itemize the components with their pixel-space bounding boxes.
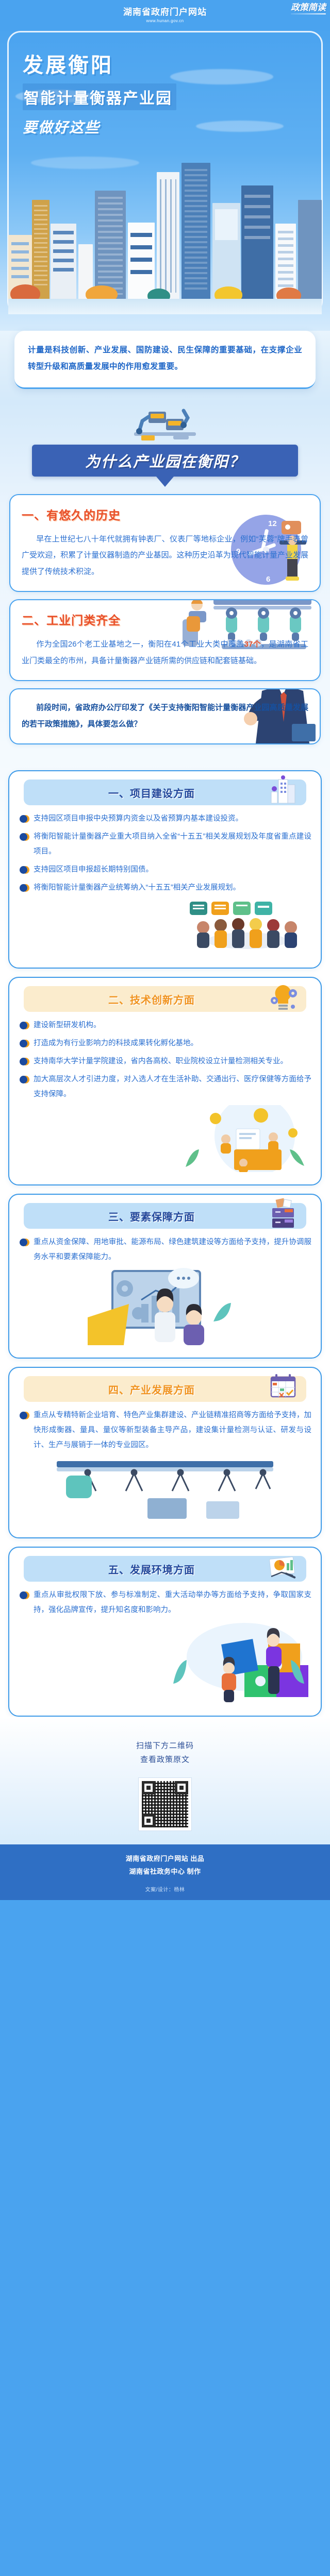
brand-underline [291,13,326,14]
site-header: 湖南省政府门户网站 www.hunan.gov.cn 政策简读 [0,0,330,28]
intro-card: 计量是科技创新、产业发展、国防建设、民生保障的重要基础，在支撑企业转型升级和高质… [14,331,316,389]
file-cabinet-icon [267,1198,299,1230]
transition-paragraph: 前段时间，省政府办公厅印发了《关于支持衡阳智能计量衡器产业园高质量发展的若干政策… [22,700,308,732]
bullet-dot-icon [20,1412,29,1421]
building [298,200,322,301]
why-section: 为什么产业园在衡阳？ 一、有悠久的历史 早在上世纪七八十年代就拥有钟表厂、仪表厂… [0,402,330,757]
bullet-dot-icon [20,815,29,824]
qr-finder-icon [142,1781,155,1794]
hero-title-line2: 智能计量衡器产业园 [24,90,172,107]
round-table-meeting-illustration [183,899,311,955]
talent-incentive-illustration [183,1105,311,1172]
why-card-industry-text: 作为全国26个老工业基地之一，衡阳在41个工业大类中覆盖37个，是湖南省工业门类… [22,636,308,669]
ground-strip [8,299,322,314]
bullet-dot-icon [20,1076,29,1085]
cloud-decor [170,69,273,84]
policy-card-development-environment: 五、发展环境方面 重点从审批权限下放、参与标准制定、重大活动举办等方面给予支持，… [8,1547,322,1717]
policy-title-5: 五、发展环境方面 [108,1562,195,1577]
qr-code-image [142,1781,188,1827]
why-banner-arrow [156,477,174,487]
qr-finder-icon [142,1814,155,1827]
list-item: 支持园区项目申报中央预算内资金以及省预算内基本建设投资。 [19,811,311,826]
policy-title-1: 一、项目建设方面 [108,785,195,800]
bullet-dot-icon [20,866,29,875]
building [32,200,49,301]
why-card-history-text: 早在上世纪七八十年代就拥有钟表厂、仪表厂等地标企业，例如“芙蓉”牌手表曾广受欢迎… [22,531,308,580]
brand-badge: 政策简读 [291,3,326,14]
policy-title-3: 三、要素保障方面 [108,1209,195,1224]
list-item: 重点从专精特新企业培育、特色产业集群建设、产业链精准招商等方面给予支持，加快形成… [19,1408,311,1453]
intro-paragraph: 计量是科技创新、产业发展、国防建设、民生保障的重要基础，在支撑企业转型升级和高质… [28,342,302,375]
list-item: 建设新型研发机构。 [19,1018,311,1033]
bullet-dot-icon [20,1239,29,1248]
why-card-industry: 二、工业门类齐全 作为全国26个老工业基地之一，衡阳在41个工业大类中覆盖37个… [9,599,321,681]
building [181,163,210,301]
transition-card: 前段时间，省政府办公厅印发了《关于支持衡阳智能计量衡器产业园高质量发展的若干政策… [9,688,321,744]
hero-title-line3: 要做好这些 [23,116,176,137]
list-item: 将衡阳智能计量衡器产业统筹纳入“十五五”相关产业发展规划。 [19,880,311,895]
policy-bullets-3: 重点从资金保障、用地审批、能源布局、绿色建筑建设等方面给予支持，提升协调服务水平… [19,1235,311,1265]
qr-finder-icon [175,1781,188,1794]
list-item: 支持园区项目申报超长期特别国债。 [19,862,311,877]
infographic-page: 湖南省政府门户网站 www.hunan.gov.cn 政策简读 发展衡阳 智能计… [0,0,330,1900]
building [51,224,76,301]
list-item: 打造成为有行业影响力的科技成果转化孵化基地。 [19,1036,311,1051]
policy-qr-code[interactable] [138,1777,192,1831]
building [157,172,179,301]
building [128,223,155,301]
page-footer: 湖南省政府门户网站 出品 湖南省社政务中心 制作 [0,1844,330,1882]
hero-banner: 发展衡阳 智能计量衡器产业园 要做好这些 [0,28,330,358]
brand-label: 政策简读 [291,3,326,12]
list-item: 支持南华大学计量学院建设，省内各高校、职业院校设立计量检测相关专业。 [19,1054,311,1069]
site-title: 湖南省政府门户网站 [123,5,207,18]
cloud-decor [196,121,284,132]
footer-line-1: 湖南省政府门户网站 出品 [0,1853,330,1866]
footer-line-2: 湖南省社政务中心 制作 [0,1866,330,1878]
policy-head-2: 二、技术创新方面 [24,986,306,1012]
bullet-dot-icon [20,1591,29,1601]
policy-title-2: 二、技术创新方面 [108,992,195,1007]
puzzle-teamwork-illustration [167,1621,311,1703]
building [95,191,126,301]
policy-head-1: 一、项目建设方面 [24,779,306,805]
policy-bullets-5: 重点从审批权限下放、参与标准制定、重大活动举办等方面给予支持，争取国家支持，强化… [19,1588,311,1618]
chart-report-icon [267,1551,299,1583]
policy-head-5: 五、发展环境方面 [24,1556,306,1582]
policy-bullets-2: 建设新型研发机构。 打造成为有行业影响力的科技成果转化孵化基地。 支持南华大学计… [19,1018,311,1102]
lightbulb-gear-icon [267,981,299,1013]
policy-bullets-4: 重点从专精特新企业培育、特色产业集群建设、产业链精准招商等方面给予支持，加快形成… [19,1408,311,1453]
intro-section: 计量是科技创新、产业发展、国防建设、民生保障的重要基础，在支撑企业转型升级和高质… [0,331,330,402]
list-item: 将衡阳智能计量衡器产业重大项目纳入全省“十五五”相关发展规划及年度省重点建设项目… [19,829,311,859]
policy-head-4: 四、产业发展方面 [24,1376,306,1402]
policy-card-element-guarantee: 三、要素保障方面 重点从资金保障、用地审批、能源布局、绿色建筑建设等方面给予支持… [8,1194,322,1359]
policy-card-tech-innovation: 二、技术创新方面 建设新型研发机构。 打造成为有行业影响力的科技成果转化孵化基地… [8,977,322,1185]
svg-text:12: 12 [268,519,277,528]
policy-head-3: 三、要素保障方面 [24,1203,306,1229]
qr-tip-line2: 查看政策原文 [0,1753,330,1767]
hero-title-line2-band: 智能计量衡器产业园 [23,83,176,110]
site-identity: 湖南省政府门户网站 www.hunan.gov.cn [123,5,207,23]
policy-title-4: 四、产业发展方面 [108,1382,195,1397]
city-skyline-illustration [8,144,322,314]
bullet-dot-icon [20,1040,29,1049]
list-item: 重点从审批权限下放、参与标准制定、重大活动举办等方面给予支持，争取国家支持，强化… [19,1588,311,1618]
list-item: 重点从资金保障、用地审批、能源布局、绿色建筑建设等方面给予支持，提升协调服务水平… [19,1235,311,1265]
industry-category-count: 37个 [244,640,261,649]
hero-title-group: 发展衡阳 智能计量衡器产业园 要做好这些 [23,48,176,137]
policy-bullets-1: 支持园区项目申报中央预算内资金以及省预算内基本建设投资。 将衡阳智能计量衡器产业… [19,811,311,895]
policy-card-industry-development: 四、产业发展方面 重点从专精特新企业培育、特色产业集群建设、产业链精准招商等方面… [8,1367,322,1538]
bullet-dot-icon [20,1058,29,1067]
site-url: www.hunan.gov.cn [123,19,207,23]
hero-title-line1: 发展衡阳 [23,48,176,78]
city-building-icon [267,774,299,806]
robot-arm-illustration [0,402,330,445]
calendar-plan-icon [267,1371,299,1403]
qr-tip-line1: 扫描下方二维码 [0,1739,330,1753]
policy-sections: 一、项目建设方面 支持园区项目申报中央预算内资金以及省预算内基本建设投资。 将衡… [0,757,330,1717]
list-item: 加大高层次人才引进力度，对入选人才在生活补助、交通出行、医疗保健等方面给予支持保… [19,1072,311,1102]
bullet-dot-icon [20,884,29,893]
why-card-history: 一、有悠久的历史 早在上世纪七八十年代就拥有钟表厂、仪表厂等地标企业，例如“芙蓉… [9,494,321,592]
building [241,185,273,301]
data-screen-team-illustration [88,1268,242,1345]
footer-credit: 文案/设计：杨林 [0,1882,330,1900]
production-line-robot-illustration [52,1458,278,1525]
bullet-dot-icon [20,1022,29,1031]
why-banner-text: 为什么产业园在衡阳？ [85,450,245,471]
why-banner: 为什么产业园在衡阳？ [32,445,298,477]
bullet-dot-icon [20,833,29,842]
qr-section: 扫描下方二维码 查看政策原文 [0,1717,330,1844]
policy-card-project-construction: 一、项目建设方面 支持园区项目申报中央预算内资金以及省预算内基本建设投资。 将衡… [8,770,322,969]
